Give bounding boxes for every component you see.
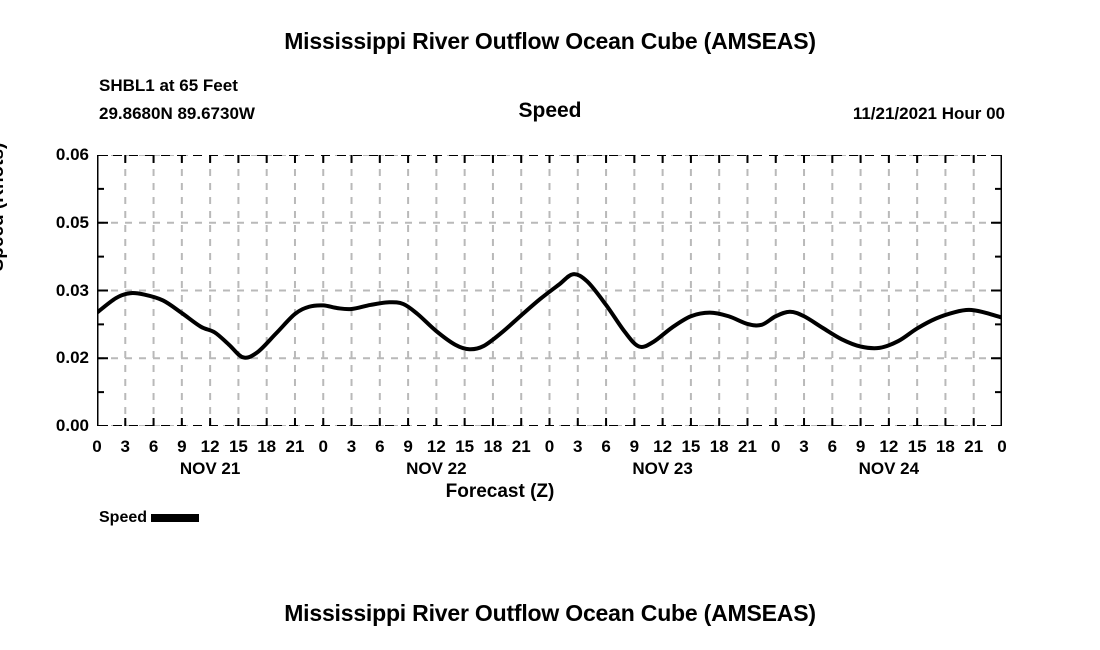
x-tick-label: 0	[982, 437, 1022, 457]
y-tick-label: 0.06	[27, 146, 89, 163]
x-axis-day-label: NOV 23	[583, 459, 743, 479]
y-tick-label: 0.00	[27, 417, 89, 434]
page-title-bottom: Mississippi River Outflow Ocean Cube (AM…	[0, 600, 1100, 627]
chart-plot-area	[97, 155, 1002, 426]
x-axis-day-label: NOV 21	[130, 459, 290, 479]
x-axis-day-label: NOV 24	[809, 459, 969, 479]
y-tick-label: 0.02	[27, 349, 89, 366]
y-tick-label: 0.05	[27, 214, 89, 231]
speed-line-chart	[97, 155, 1002, 426]
page-title-top: Mississippi River Outflow Ocean Cube (AM…	[0, 28, 1100, 55]
legend-swatch-speed	[151, 514, 199, 522]
y-tick-label: 0.03	[27, 282, 89, 299]
legend-label-speed: Speed	[99, 509, 147, 527]
station-depth-label: SHBL1 at 65 Feet	[99, 76, 238, 96]
x-axis-title: Forecast (Z)	[360, 481, 640, 503]
y-axis-title: Speed (Knots)	[0, 42, 9, 372]
x-axis-day-label: NOV 22	[356, 459, 516, 479]
model-run-label: 11/21/2021 Hour 00	[853, 104, 1005, 124]
chart-legend: Speed	[99, 509, 199, 527]
